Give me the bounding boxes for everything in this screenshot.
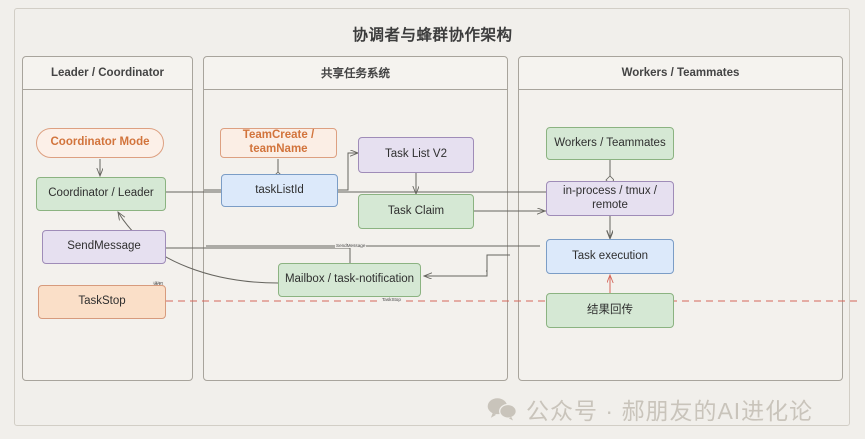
diagram-canvas: 协调者与蜂群协作架构 Leader / Coordinator 共享任务系统 W…: [0, 0, 865, 439]
node-coordinator-mode[interactable]: Coordinator Mode: [36, 128, 164, 158]
node-coordinator-leader[interactable]: Coordinator / Leader: [36, 177, 166, 211]
edge-label-send-message: SendMessage: [335, 243, 366, 248]
node-task-list-v2[interactable]: Task List V2: [358, 137, 474, 173]
node-team-create[interactable]: TeamCreate / teamName: [220, 128, 337, 158]
lane-header-workers: Workers / Teammates: [519, 57, 842, 90]
node-task-execution[interactable]: Task execution: [546, 239, 674, 274]
watermark-text: 公众号 · 郝朋友的AI进化论: [526, 392, 813, 426]
node-result-return[interactable]: 结果回传: [546, 293, 674, 328]
lane-header-shared: 共享任务系统: [204, 57, 507, 90]
lane-leader: Leader / Coordinator: [22, 56, 193, 381]
node-runtime[interactable]: in-process / tmux / remote: [546, 181, 674, 216]
lane-workers: Workers / Teammates: [518, 56, 843, 381]
node-mailbox[interactable]: Mailbox / task-notification: [278, 263, 421, 297]
page-title: 协调者与蜂群协作架构: [0, 23, 865, 45]
node-task-list-id[interactable]: taskListId: [221, 174, 338, 207]
node-task-claim[interactable]: Task Claim: [358, 194, 474, 229]
node-send-message[interactable]: SendMessage: [42, 230, 166, 264]
wechat-icon: [487, 397, 517, 421]
node-workers-teammates[interactable]: Workers / Teammates: [546, 127, 674, 160]
watermark: 公众号 · 郝朋友的AI进化论: [487, 392, 813, 426]
node-task-stop[interactable]: TaskStop: [38, 285, 166, 319]
edge-label-task-stop: TaskStop: [381, 297, 402, 302]
lane-header-leader: Leader / Coordinator: [23, 57, 192, 90]
